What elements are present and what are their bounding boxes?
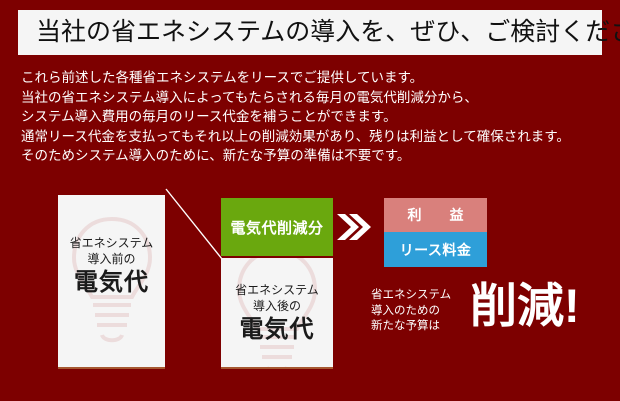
after-cost-line-1: 省エネシステム [221, 282, 333, 298]
intro-line-2: 当社の省エネシステム導入によってもたらされる毎月の電気代削減分から、 [21, 88, 605, 108]
intro-line-4: 通常リース代金を支払ってもそれ以上の削減効果があり、残りは利益として確保されます… [21, 127, 605, 147]
before-cost-line-3: 電気代 [58, 268, 165, 298]
double-chevron-right-icon [336, 212, 372, 242]
after-cost-line-2: 導入後の [221, 298, 333, 314]
intro-line-5: そのためシステム導入のために、新たな予算の準備は不要です。 [21, 146, 605, 166]
conclusion-line-2: 導入のための [371, 304, 466, 320]
profit-box: 利 益 [384, 198, 487, 232]
after-cost-labels: 省エネシステム 導入後の 電気代 [221, 282, 333, 345]
header-banner: 当社の省エネシステムの導入を、ぜひ、ご検討ください [18, 10, 602, 55]
reduction-box-label: 電気代削減分 [230, 217, 323, 238]
lease-box-label: リース料金 [400, 240, 472, 260]
intro-line-3: システム導入費用の毎月のリース代金を補うことができます。 [21, 107, 605, 127]
diagonal-line-icon [160, 185, 230, 270]
poster-root: 当社の省エネシステムの導入を、ぜひ、ご検討ください これら前述した各種省エネシス… [0, 0, 620, 401]
conclusion-highlight: 削減! [470, 280, 580, 332]
before-cost-line-2: 導入前の [58, 251, 165, 267]
intro-line-1: これら前述した各種省エネシステムをリースでご提供しています。 [21, 68, 605, 88]
conclusion-line-3: 新たな予算は [371, 319, 466, 335]
before-cost-box: 省エネシステム 導入前の 電気代 [58, 195, 165, 367]
intro-paragraph: これら前述した各種省エネシステムをリースでご提供しています。 当社の省エネシステ… [21, 68, 605, 166]
conclusion-line-1: 省エネシステム [371, 288, 466, 304]
cost-comparison-diagram: 省エネシステム 導入前の 電気代 電気代削減分 [0, 180, 620, 380]
after-cost-line-3: 電気代 [221, 315, 333, 345]
reduction-box: 電気代削減分 [221, 198, 333, 256]
conclusion-caption: 省エネシステム 導入のための 新たな予算は [371, 288, 466, 335]
lease-box: リース料金 [384, 232, 487, 267]
page-title: 当社の省エネシステムの導入を、ぜひ、ご検討ください [18, 20, 620, 45]
before-cost-line-1: 省エネシステム [58, 235, 165, 251]
after-cost-box: 省エネシステム 導入後の 電気代 [221, 258, 333, 367]
before-cost-labels: 省エネシステム 導入前の 電気代 [58, 235, 165, 298]
profit-box-label: 利 益 [401, 205, 471, 225]
